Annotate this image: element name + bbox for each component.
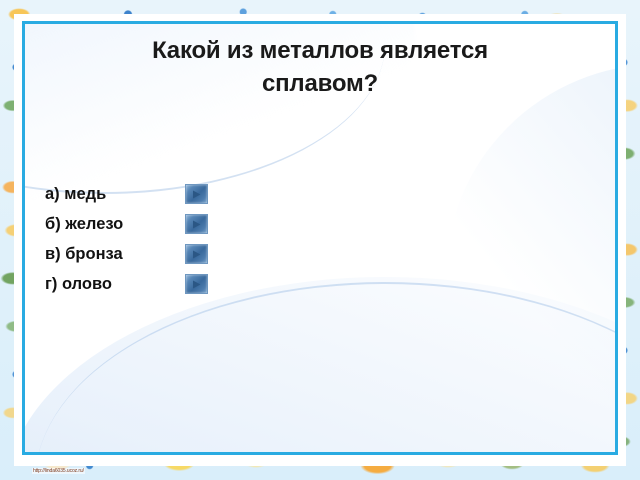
answer-option-b[interactable]: б) железо: [45, 209, 208, 239]
content-panel: Какой из металлов является сплавом? а) м…: [22, 21, 618, 455]
play-triangle-icon[interactable]: [185, 274, 208, 294]
answer-option-g[interactable]: г) олово: [45, 269, 208, 299]
answer-option-b-label: б) железо: [45, 215, 185, 234]
answer-option-v[interactable]: в) бронза: [45, 239, 208, 269]
answer-option-v-label: в) бронза: [45, 245, 185, 264]
answer-option-a[interactable]: а) медь: [45, 179, 208, 209]
quiz-slide: Какой из металлов является сплавом? а) м…: [0, 0, 640, 480]
question-title: Какой из металлов является сплавом?: [55, 34, 585, 100]
question-title-line-2: сплавом?: [55, 67, 585, 100]
play-triangle-icon[interactable]: [185, 244, 208, 264]
play-triangle-icon[interactable]: [185, 184, 208, 204]
answer-options-list: а) медь б) железо в) бронза: [45, 179, 208, 299]
play-triangle-icon[interactable]: [185, 214, 208, 234]
question-title-line-1: Какой из металлов является: [55, 34, 585, 67]
source-watermark: http://linda6035.ucoz.ru/: [32, 468, 85, 474]
answer-option-g-label: г) олово: [45, 275, 185, 294]
answer-option-a-label: а) медь: [45, 185, 185, 204]
background-swoosh-bottom-line: [35, 282, 618, 455]
